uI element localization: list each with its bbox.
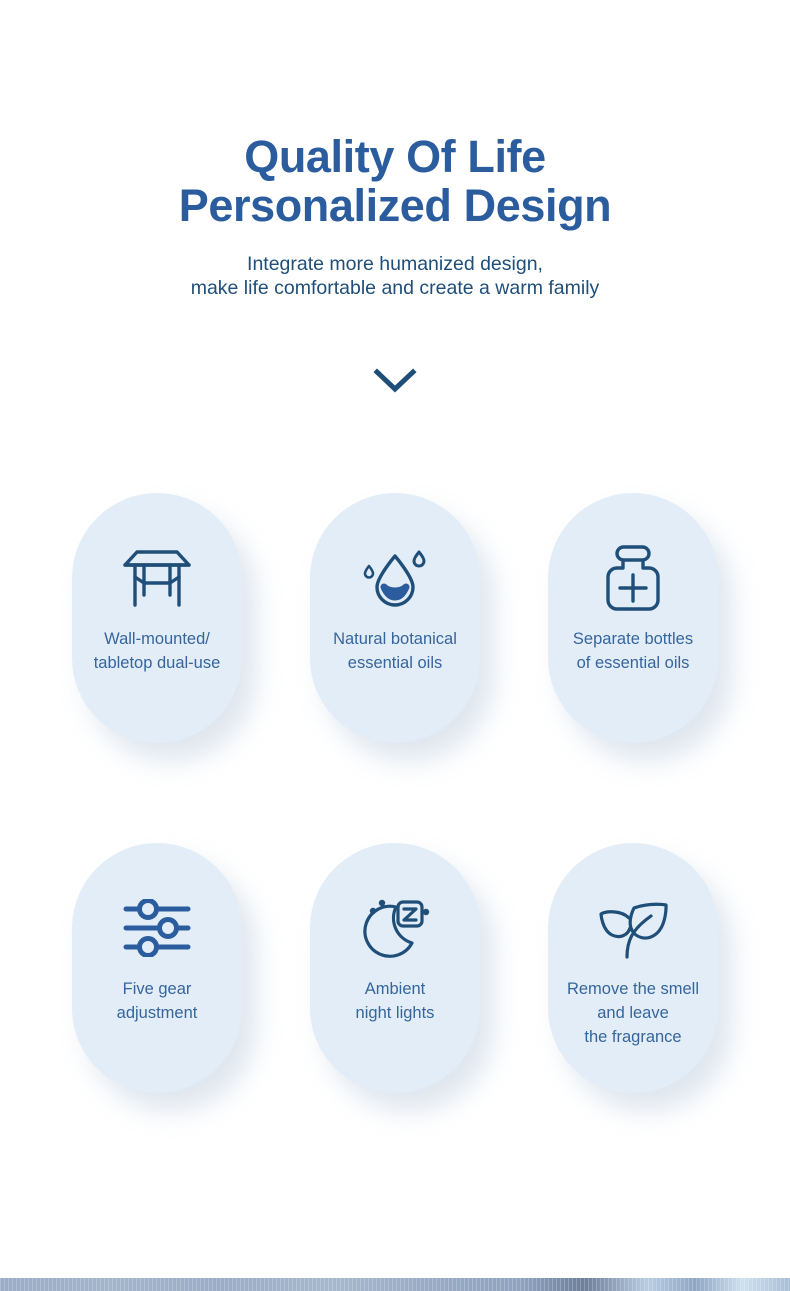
feature-card-night-light[interactable]: Ambient night lights <box>310 843 480 1093</box>
feature-label-line-1: Natural botanical <box>300 627 490 651</box>
page-subtitle: Integrate more humanized design, make li… <box>0 252 790 300</box>
page-title-line-2: Personalized Design <box>0 181 790 230</box>
feature-card-botanical-oils[interactable]: Natural botanical essential oils <box>310 493 480 743</box>
chevron-down-icon <box>373 368 417 394</box>
feature-card-label: Ambient night lights <box>300 977 490 1025</box>
scroll-hint <box>0 368 790 394</box>
feature-card-label: Separate bottles of essential oils <box>538 627 728 675</box>
water-droplet-icon <box>361 543 429 613</box>
feature-label-line-2: tabletop dual-use <box>62 651 252 675</box>
next-section-image-strip <box>0 1278 790 1291</box>
feature-grid: Wall-mounted/ tabletop dual-use Natural … <box>0 493 790 1093</box>
feature-label-line-2: adjustment <box>62 1001 252 1025</box>
feature-label-line-1: Ambient <box>300 977 490 1001</box>
sliders-icon <box>122 893 192 963</box>
feature-label-line-3: the fragrance <box>538 1025 728 1049</box>
feature-card-remove-smell[interactable]: Remove the smell and leave the fragrance <box>548 843 718 1093</box>
feature-label-line-1: Wall-mounted/ <box>62 627 252 651</box>
feature-card-label: Five gear adjustment <box>62 977 252 1025</box>
leaf-icon <box>596 893 670 963</box>
page-subtitle-line-1: Integrate more humanized design, <box>0 252 790 276</box>
feature-label-line-2: night lights <box>300 1001 490 1025</box>
feature-label-line-2: essential oils <box>300 651 490 675</box>
feature-label-line-1: Remove the smell <box>538 977 728 1001</box>
page-title: Quality Of Life Personalized Design <box>0 132 790 230</box>
feature-card-wall-mounted[interactable]: Wall-mounted/ tabletop dual-use <box>72 493 242 743</box>
table-icon <box>122 543 192 613</box>
feature-card-label: Remove the smell and leave the fragrance <box>538 977 728 1049</box>
moon-sleep-icon <box>360 893 430 963</box>
feature-label-line-1: Five gear <box>62 977 252 1001</box>
page-header: Quality Of Life Personalized Design Inte… <box>0 0 790 394</box>
page-subtitle-line-2: make life comfortable and create a warm … <box>0 276 790 300</box>
feature-card-label: Wall-mounted/ tabletop dual-use <box>62 627 252 675</box>
feature-page: Quality Of Life Personalized Design Inte… <box>0 0 790 1291</box>
feature-card-five-gear[interactable]: Five gear adjustment <box>72 843 242 1093</box>
feature-card-separate-bottles[interactable]: Separate bottles of essential oils <box>548 493 718 743</box>
bottle-plus-icon <box>602 543 664 613</box>
feature-label-line-2: of essential oils <box>538 651 728 675</box>
page-title-line-1: Quality Of Life <box>0 132 790 181</box>
feature-label-line-2: and leave <box>538 1001 728 1025</box>
feature-card-label: Natural botanical essential oils <box>300 627 490 675</box>
feature-label-line-1: Separate bottles <box>538 627 728 651</box>
